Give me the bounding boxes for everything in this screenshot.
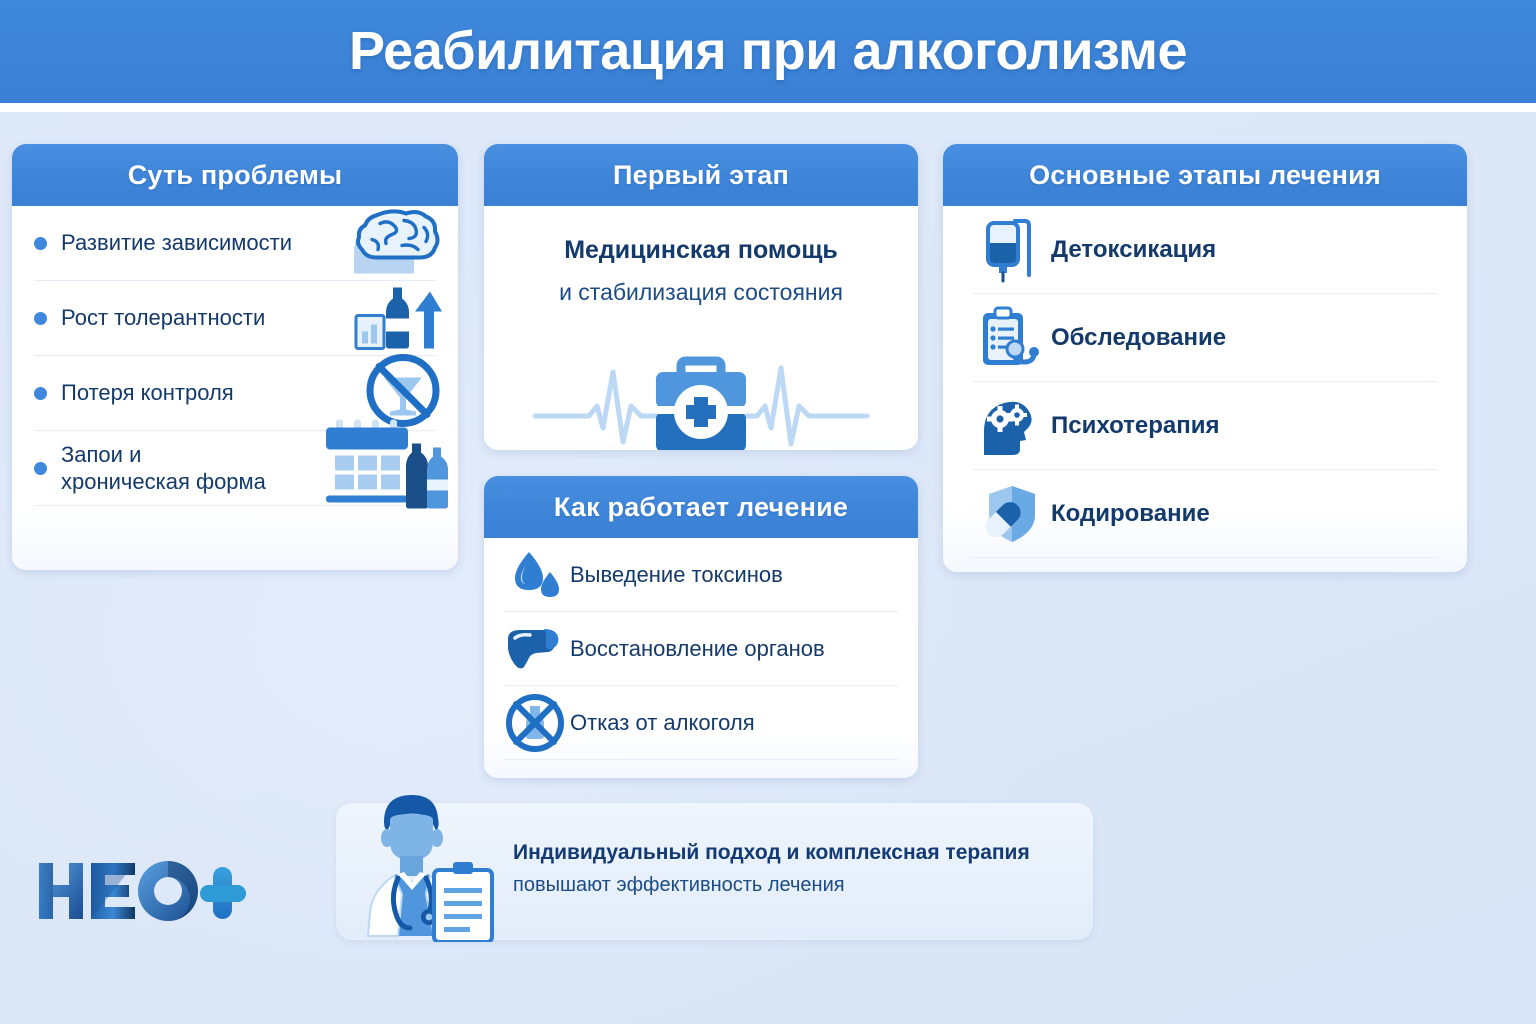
list-item[interactable]: Потеря контроля: [34, 356, 436, 431]
first-stage-line1: Медицинская помощь: [484, 236, 918, 265]
card-first-stage-body: Медицинская помощь и стабилизация состоя…: [484, 236, 918, 450]
water-drop-icon: [504, 550, 566, 600]
card-problem: Суть проблемы Развитие зависимости: [12, 144, 458, 570]
list-item-label: Кодирование: [1051, 500, 1210, 528]
card-how-treatment-works: Как работает лечение Выведение токсинов: [484, 476, 918, 778]
card-main-stages-body: Детоксикация: [943, 206, 1467, 572]
list-item[interactable]: Обследование: [973, 294, 1437, 382]
liver-icon: [504, 627, 566, 671]
list-item-label: Рост толерантности: [61, 304, 265, 331]
list-item-label: Восстановление органов: [570, 636, 825, 662]
no-drinking-crossed-icon: [504, 692, 566, 754]
page-title: Реабилитация при алкоголизме: [0, 20, 1536, 82]
calendar-bottles-icon: [320, 420, 448, 517]
card-main-stages-title: Основные этапы лечения: [1029, 160, 1381, 191]
list-item[interactable]: Развитие зависимости: [34, 206, 436, 281]
list-item-label: Выведение токсинов: [570, 562, 783, 588]
list-item-label-text: Запои ихроническая форма: [61, 442, 266, 494]
brain-head-icon: [346, 208, 442, 279]
list-item-label: Психотерапия: [1051, 412, 1220, 440]
list-item-label: Отказ от алкоголя: [570, 710, 755, 736]
card-main-stages: Основные этапы лечения Детоксикация: [943, 144, 1467, 572]
list-item[interactable]: Запои ихроническая форма Запои ихроничес…: [34, 431, 436, 506]
card-how-title: Как работает лечение: [554, 492, 848, 523]
card-first-stage-title: Первый этап: [613, 160, 789, 191]
bullet-icon: [34, 387, 47, 400]
list-item[interactable]: Психотерапия: [973, 382, 1437, 470]
neo-plus-logo[interactable]: [35, 855, 250, 927]
list-item-label: Потеря контроля: [61, 379, 234, 406]
banner-text: Индивидуальный подход и комплексная тера…: [513, 841, 1073, 897]
list-item[interactable]: Выведение токсинов: [504, 538, 898, 612]
header-underline: [0, 103, 1536, 112]
card-first-stage-header: Первый этап: [484, 144, 918, 206]
infographic-canvas: Реабилитация при алкоголизме Суть пробле…: [0, 0, 1536, 1024]
list-item-label: Детоксикация: [1051, 236, 1216, 264]
card-problem-body: Развитие зависимости: [12, 206, 458, 570]
card-how-header: Как работает лечение: [484, 476, 918, 538]
bottle-growth-arrow-icon: [352, 280, 442, 357]
card-problem-header: Суть проблемы: [12, 144, 458, 206]
list-item[interactable]: Детоксикация: [973, 206, 1437, 294]
page-header: Реабилитация при алкоголизме: [0, 0, 1536, 103]
list-item[interactable]: Восстановление органов: [504, 612, 898, 686]
card-first-stage: Первый этап Медицинская помощь и стабили…: [484, 144, 918, 450]
list-item-label: Развитие зависимости: [61, 229, 292, 256]
no-alcohol-icon: [364, 352, 442, 435]
list-item-label: Обследование: [1051, 324, 1226, 352]
pill-shield-icon: [973, 483, 1045, 545]
card-problem-title: Суть проблемы: [128, 160, 343, 191]
first-stage-line2: и стабилизация состояния: [484, 279, 918, 306]
head-gears-icon: [973, 395, 1045, 457]
bullet-icon: [34, 237, 47, 250]
list-item[interactable]: Кодирование: [973, 470, 1437, 558]
list-item[interactable]: Отказ от алкоголя: [504, 686, 898, 760]
clipboard-stethoscope-icon: [973, 306, 1045, 370]
list-item[interactable]: Рост толерантности: [34, 281, 436, 356]
iv-drip-icon: [973, 217, 1045, 283]
banner-line1: Индивидуальный подход и комплексная тера…: [513, 841, 1073, 865]
banner-line2: повышают эффективность лечения: [513, 874, 1073, 897]
card-how-body: Выведение токсинов Восстановление органо…: [484, 538, 918, 778]
card-main-stages-header: Основные этапы лечения: [943, 144, 1467, 206]
bullet-icon: [34, 462, 47, 475]
list-item-label: Запои ихроническая форма Запои ихроничес…: [61, 441, 266, 496]
bullet-icon: [34, 312, 47, 325]
first-aid-kit-ecg-icon: [484, 354, 918, 450]
